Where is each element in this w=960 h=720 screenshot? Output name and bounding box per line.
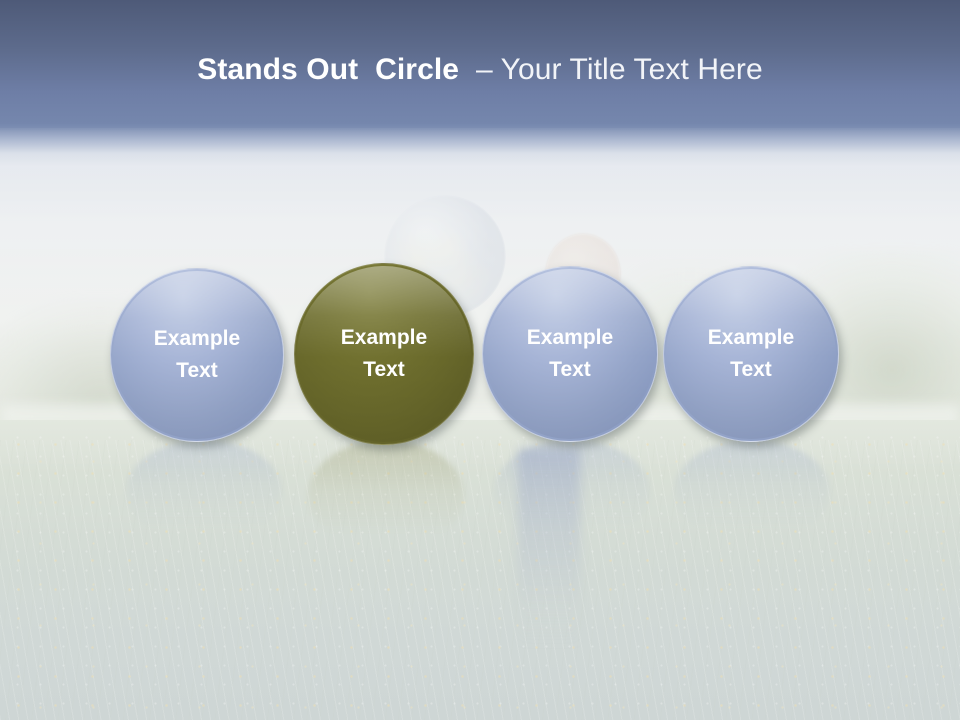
circle-shape-2-highlighted[interactable]: Example Text xyxy=(294,263,474,445)
circle-label-2: Example Text xyxy=(341,322,427,386)
circle-shape-1[interactable]: Example Text xyxy=(110,268,284,442)
page-title-bold: Stands Out Circle xyxy=(197,53,467,86)
page-title-light: – Your Title Text Here xyxy=(468,53,763,86)
circle-label-3: Example Text xyxy=(527,322,613,386)
circle-label-1: Example Text xyxy=(154,323,240,387)
page-title: Stands Out Circle – Your Title Text Here xyxy=(0,53,960,87)
circle-shape-3[interactable]: Example Text xyxy=(482,266,658,442)
circle-shape-4[interactable]: Example Text xyxy=(663,266,839,442)
presentation-slide: Stands Out Circle – Your Title Text Here… xyxy=(0,0,960,720)
background-flower-speckles xyxy=(0,430,960,720)
title-band-fade xyxy=(0,124,960,166)
circle-label-4: Example Text xyxy=(708,322,794,386)
